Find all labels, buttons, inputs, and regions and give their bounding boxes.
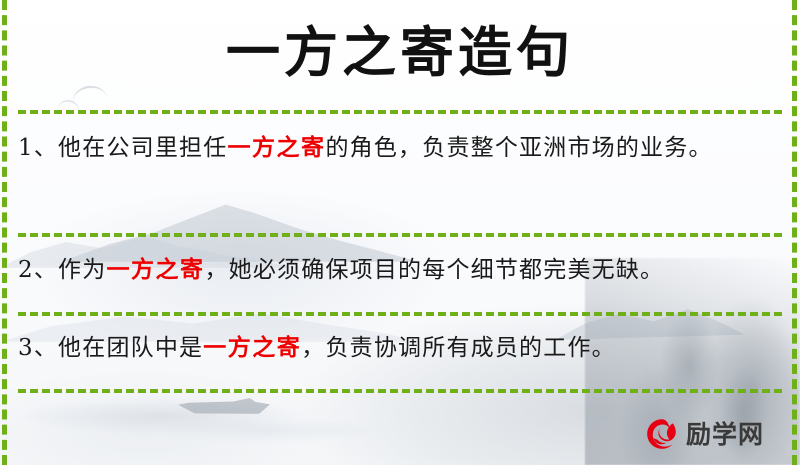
sentence-1-number: 1、: [18, 135, 58, 161]
sentence-1-text-after: 的角色，负责整个亚洲市场的业务。: [325, 135, 712, 161]
sentence-1-text-before: 他在公司里担任: [58, 135, 227, 161]
sentence-3-idiom: 一方之寄: [203, 334, 301, 361]
sentence-3-number: 3、: [18, 335, 58, 361]
dashed-border-left: [2, 0, 7, 465]
sentence-item-3: 3、他在团队中是一方之寄，负责协调所有成员的工作。: [18, 328, 778, 368]
red-swirl-bird-icon: [645, 417, 679, 451]
divider-bottom: [18, 389, 782, 393]
sentence-item-2: 2、作为一方之寄，她必须确保项目的每个细节都完美无缺。: [18, 250, 778, 290]
divider-after-sentence-1: [18, 233, 782, 237]
card-content: 一方之寄造句 1、他在公司里担任一方之寄的角色，负责整个亚洲市场的业务。 2、作…: [0, 0, 800, 465]
sentence-2-number: 2、: [18, 257, 58, 283]
sentence-3-text-before: 他在团队中是: [58, 335, 203, 361]
divider-after-sentence-2: [18, 312, 782, 316]
sentence-item-1: 1、他在公司里担任一方之寄的角色，负责整个亚洲市场的业务。: [18, 128, 778, 168]
sentence-3-text-after: ，负责协调所有成员的工作。: [301, 335, 616, 361]
divider-top: [18, 110, 782, 114]
sentence-2-text-before: 作为: [58, 257, 106, 283]
sentence-2-idiom: 一方之寄: [106, 256, 204, 283]
sentence-1-idiom: 一方之寄: [227, 134, 325, 161]
page-title: 一方之寄造句: [0, 16, 800, 89]
site-logo-text: 励学网: [686, 422, 764, 447]
sentence-2-text-after: ，她必须确保项目的每个细节都完美无缺。: [204, 257, 664, 283]
site-logo: 励学网: [645, 417, 764, 451]
dashed-border-right: [792, 0, 797, 465]
sentence-example-card: 一方之寄造句 1、他在公司里担任一方之寄的角色，负责整个亚洲市场的业务。 2、作…: [0, 0, 800, 465]
